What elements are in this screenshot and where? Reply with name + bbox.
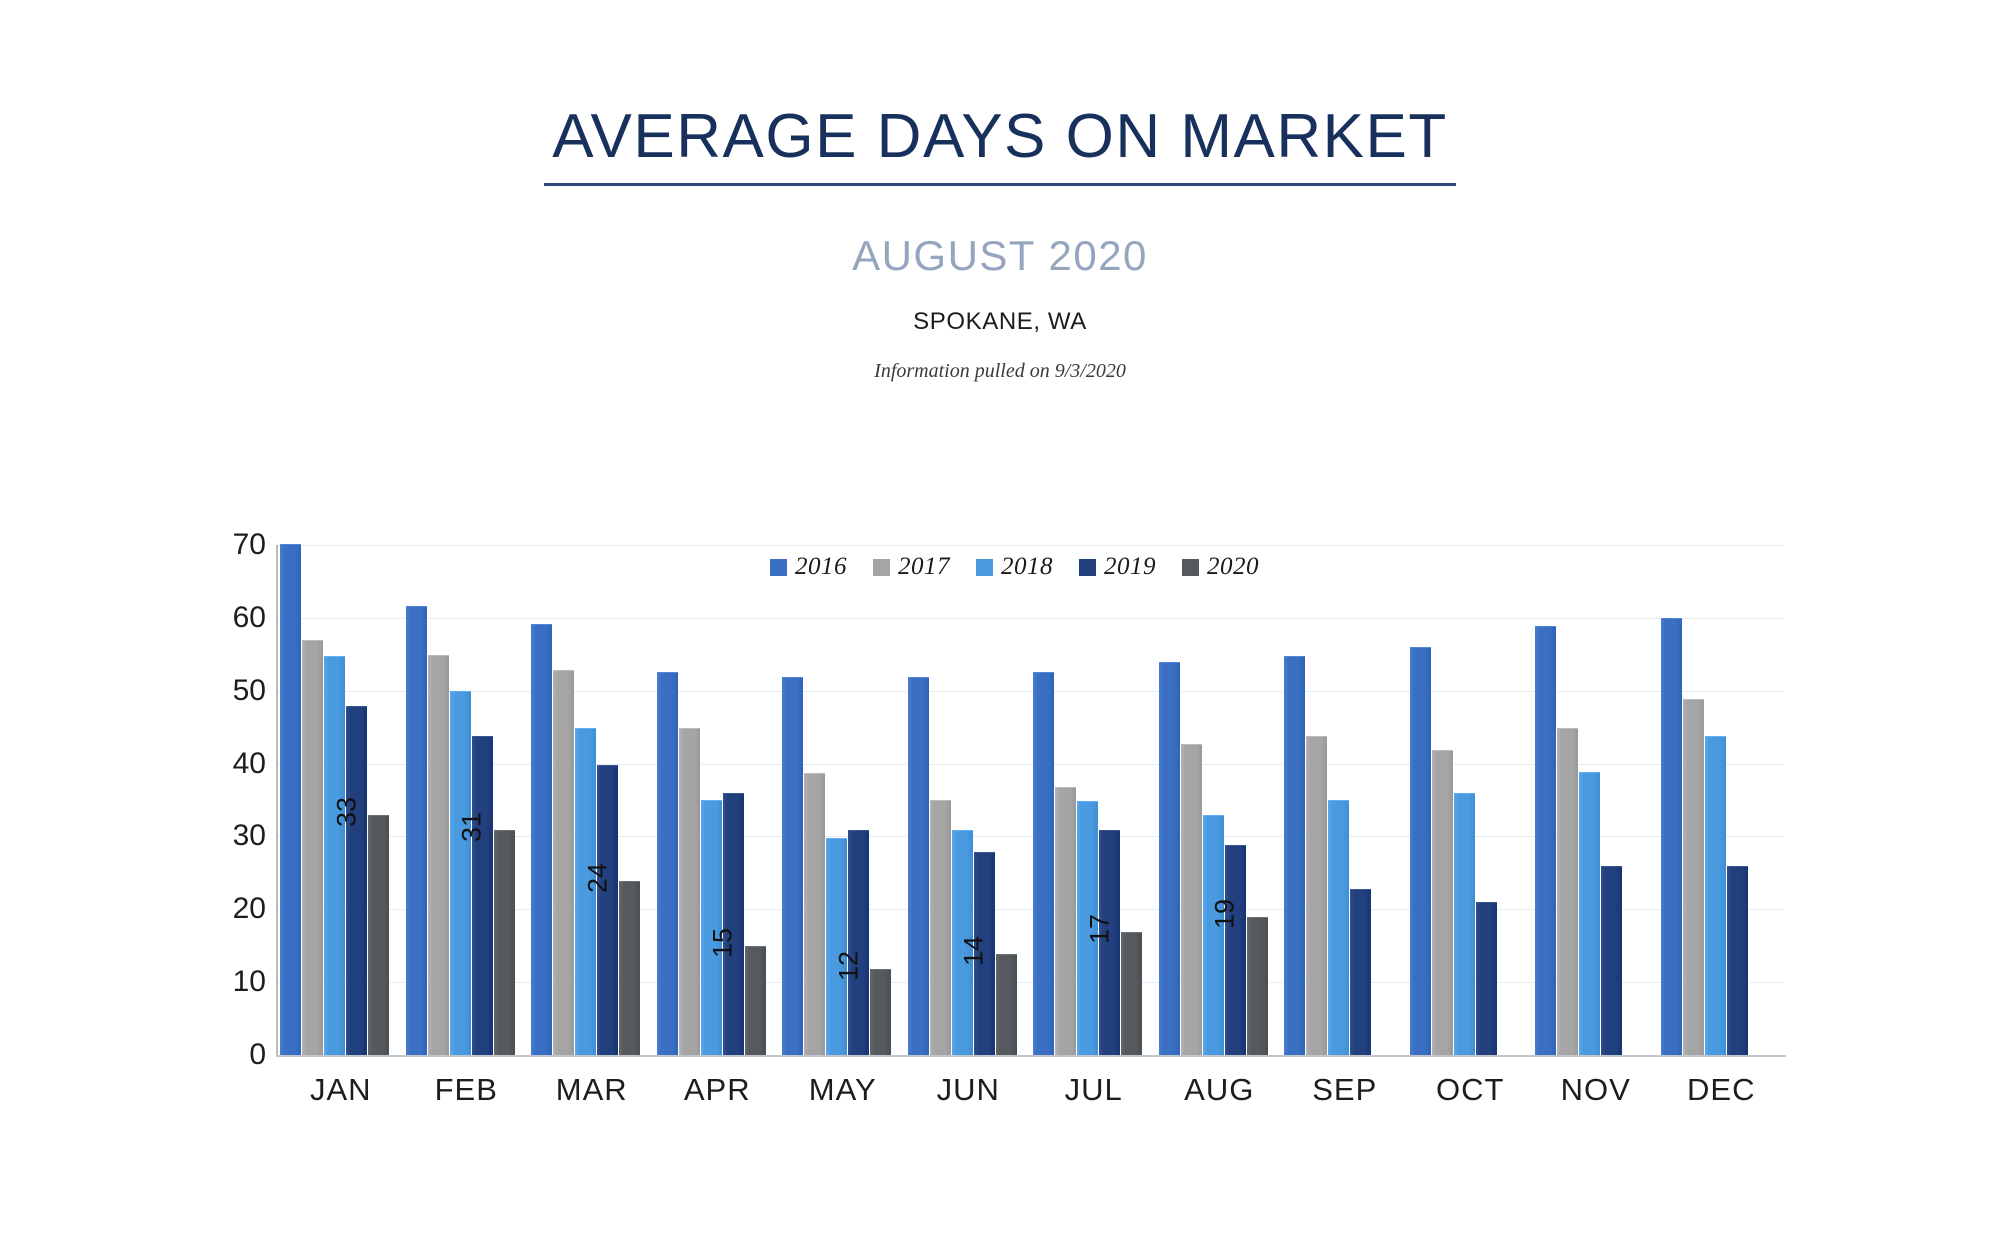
legend-label: 2017 <box>898 553 950 581</box>
bar-2019[interactable] <box>1476 902 1497 1055</box>
bar-2017[interactable] <box>302 640 323 1055</box>
y-axis-tick-label: 60 <box>196 601 266 635</box>
legend-item[interactable]: 2017 <box>873 553 950 581</box>
bar-2016[interactable] <box>908 677 929 1055</box>
x-axis-label: DEC <box>1659 1072 1785 1108</box>
bar-2019[interactable] <box>1727 866 1748 1055</box>
legend-item[interactable]: 2019 <box>1079 553 1156 581</box>
bar-value-label: 31 <box>473 812 504 842</box>
bar-2016[interactable] <box>280 544 301 1055</box>
bar-2019[interactable] <box>1225 845 1246 1055</box>
bar-2019[interactable] <box>723 793 744 1055</box>
location-label: SPOKANE, WA <box>0 280 2000 336</box>
x-axis-label: NOV <box>1533 1072 1659 1108</box>
bar-group <box>1410 545 1520 1055</box>
bar-2020[interactable]: 19 <box>1247 917 1268 1055</box>
bar-2020[interactable]: 24 <box>619 881 640 1055</box>
bar-value-label: 24 <box>599 863 630 893</box>
bar-2018[interactable] <box>1203 815 1224 1055</box>
bar-2018[interactable] <box>450 691 471 1055</box>
bar-group: 14 <box>908 545 1018 1055</box>
y-axis-tick-label: 30 <box>196 819 266 853</box>
bar-2016[interactable] <box>782 677 803 1055</box>
bar-value-label: 33 <box>348 797 379 827</box>
bar-2017[interactable] <box>1557 728 1578 1055</box>
y-axis-tick-label: 20 <box>196 892 266 926</box>
bar-2018[interactable] <box>1579 772 1600 1055</box>
gridline <box>278 1055 1784 1056</box>
bar-2017[interactable] <box>1432 750 1453 1055</box>
bar-2016[interactable] <box>406 606 427 1055</box>
x-axis-label: FEB <box>404 1072 530 1108</box>
bar-2020[interactable]: 15 <box>745 946 766 1055</box>
bar-2020[interactable]: 12 <box>870 969 891 1055</box>
y-axis-tick-label: 70 <box>196 528 266 562</box>
bar-value-label: 17 <box>1101 914 1132 944</box>
bar-2016[interactable] <box>1159 662 1180 1055</box>
x-axis-label: APR <box>655 1072 781 1108</box>
legend-item[interactable]: 2016 <box>770 553 847 581</box>
bar-2018[interactable] <box>826 838 847 1055</box>
x-axis-label: JUL <box>1031 1072 1157 1108</box>
bar-2016[interactable] <box>1033 672 1054 1056</box>
bar-group: 19 <box>1159 545 1269 1055</box>
legend-label: 2018 <box>1001 553 1053 581</box>
bar-group: 12 <box>782 545 892 1055</box>
bar-2017[interactable] <box>1055 787 1076 1055</box>
x-axis-label: OCT <box>1408 1072 1534 1108</box>
legend-label: 2020 <box>1207 553 1259 581</box>
bar-2017[interactable] <box>1181 744 1202 1055</box>
bar-2016[interactable] <box>1284 656 1305 1055</box>
bar-2016[interactable] <box>1410 647 1431 1055</box>
data-pulled-note: Information pulled on 9/3/2020 <box>0 336 2000 383</box>
bar-group: 24 <box>531 545 641 1055</box>
bar-2020[interactable]: 31 <box>494 830 515 1055</box>
bar-group: 15 <box>657 545 767 1055</box>
bar-2018[interactable] <box>324 656 345 1055</box>
page-subtitle: AUGUST 2020 <box>0 186 2000 280</box>
y-axis-tick-label: 50 <box>196 674 266 708</box>
plot-area: 3331241512141719 <box>278 545 1784 1055</box>
page-title: AVERAGE DAYS ON MARKET <box>544 104 1455 186</box>
bar-2019[interactable] <box>597 765 618 1055</box>
bar-2018[interactable] <box>1705 736 1726 1055</box>
bar-group: 33 <box>280 545 390 1055</box>
bar-2018[interactable] <box>1328 800 1349 1055</box>
bar-2017[interactable] <box>428 655 449 1055</box>
legend-swatch-icon <box>873 559 890 576</box>
x-axis-label: AUG <box>1157 1072 1283 1108</box>
bar-2017[interactable] <box>553 670 574 1055</box>
bar-2019[interactable] <box>1601 866 1622 1055</box>
legend-swatch-icon <box>1079 559 1096 576</box>
bar-2017[interactable] <box>1306 736 1327 1055</box>
bar-2017[interactable] <box>679 728 700 1055</box>
bar-2016[interactable] <box>1535 626 1556 1055</box>
bar-value-label: 12 <box>850 951 881 981</box>
legend-item[interactable]: 2020 <box>1182 553 1259 581</box>
bar-value-label: 19 <box>1226 899 1257 929</box>
x-axis-label: MAY <box>780 1072 906 1108</box>
chart-header: AVERAGE DAYS ON MARKET AUGUST 2020 SPOKA… <box>0 0 2000 383</box>
bar-2016[interactable] <box>1661 618 1682 1055</box>
bar-value-label: 15 <box>724 928 755 958</box>
bar-2019[interactable] <box>848 830 869 1055</box>
legend-item[interactable]: 2018 <box>976 553 1053 581</box>
y-axis-tick-label: 0 <box>196 1038 266 1072</box>
bar-group <box>1284 545 1394 1055</box>
chart-legend: 20162017201820192020 <box>770 553 1259 581</box>
bar-2020[interactable]: 17 <box>1121 932 1142 1055</box>
bar-group <box>1661 545 1771 1055</box>
bar-2019[interactable] <box>1350 889 1371 1055</box>
legend-label: 2019 <box>1104 553 1156 581</box>
bar-2016[interactable] <box>531 624 552 1055</box>
x-axis-label: JUN <box>906 1072 1032 1108</box>
bar-value-label: 14 <box>975 936 1006 966</box>
legend-swatch-icon <box>770 559 787 576</box>
legend-swatch-icon <box>976 559 993 576</box>
bar-group: 31 <box>406 545 516 1055</box>
bar-2016[interactable] <box>657 672 678 1056</box>
x-axis-label: JAN <box>278 1072 404 1108</box>
bar-2017[interactable] <box>930 800 951 1055</box>
x-axis-label: MAR <box>529 1072 655 1108</box>
bar-group <box>1535 545 1645 1055</box>
bar-2019[interactable] <box>472 736 493 1055</box>
bar-chart: 010203040506070 3331241512141719 JANFEBM… <box>0 520 2000 1000</box>
x-axis-label: SEP <box>1282 1072 1408 1108</box>
legend-swatch-icon <box>1182 559 1199 576</box>
bar-2017[interactable] <box>804 773 825 1055</box>
y-axis-tick-label: 10 <box>196 965 266 999</box>
bar-2020[interactable]: 33 <box>368 815 389 1055</box>
bar-2018[interactable] <box>1454 793 1475 1055</box>
legend-label: 2016 <box>795 553 847 581</box>
bar-2017[interactable] <box>1683 699 1704 1055</box>
y-axis-tick-label: 40 <box>196 747 266 781</box>
bar-2020[interactable]: 14 <box>996 954 1017 1055</box>
bar-2019[interactable] <box>346 706 367 1055</box>
bar-group: 17 <box>1033 545 1143 1055</box>
